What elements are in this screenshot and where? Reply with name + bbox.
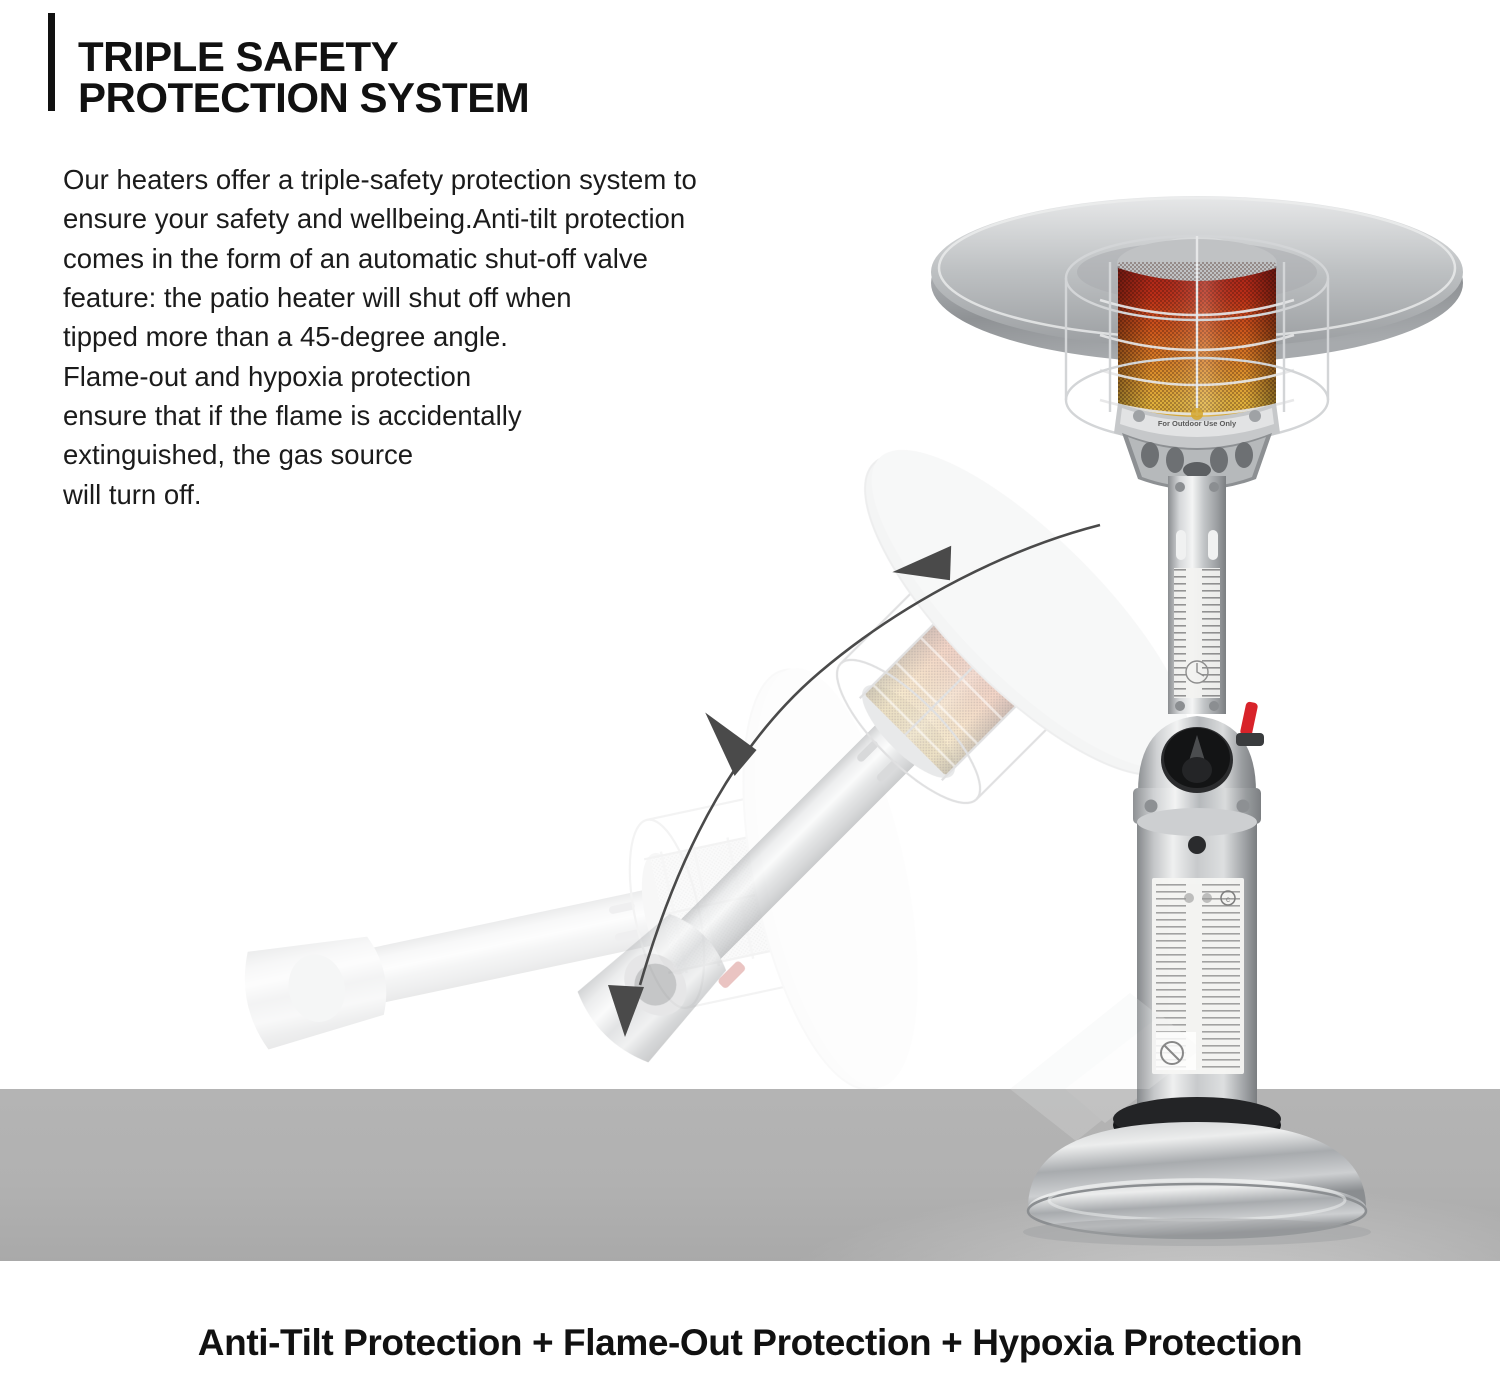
igniter-lever[interactable] [1236,701,1264,746]
tank-warning-label: c [1152,878,1244,1074]
body-line: Our heaters offer a triple-safety protec… [63,160,763,199]
heater-pole [1168,476,1226,714]
title-line-2: PROTECTION SYSTEM [78,77,978,118]
title-accent-bar [48,13,55,111]
no-flame-prohibition-icon [1156,1032,1196,1070]
body-line: feature: the patio heater will shut off … [63,278,763,317]
title-line-1: TRIPLE SAFETY [78,36,978,77]
body-line: comes in the form of an automatic shut-o… [63,239,763,278]
footer-caption: Anti-Tilt Protection + Flame-Out Protect… [0,1322,1500,1364]
body-line: tipped more than a 45-degree angle. [63,317,763,356]
body-copy: Our heaters offer a triple-safety protec… [63,160,763,514]
svg-text:c: c [1226,895,1230,904]
page-title: TRIPLE SAFETY PROTECTION SYSTEM [78,36,978,118]
control-knob[interactable] [1161,727,1233,793]
body-line: Flame-out and hypoxia protection [63,357,763,396]
tank-body: c [1137,808,1257,1090]
ground-sheen [0,1089,1500,1261]
body-line: ensure that if the flame is accidentally [63,396,763,435]
burner-label: For Outdoor Use Only [1158,419,1237,428]
body-line: extinguished, the gas source [63,435,763,474]
body-line: will turn off. [63,475,763,514]
body-line: ensure your safety and wellbeing.Anti-ti… [63,199,763,238]
